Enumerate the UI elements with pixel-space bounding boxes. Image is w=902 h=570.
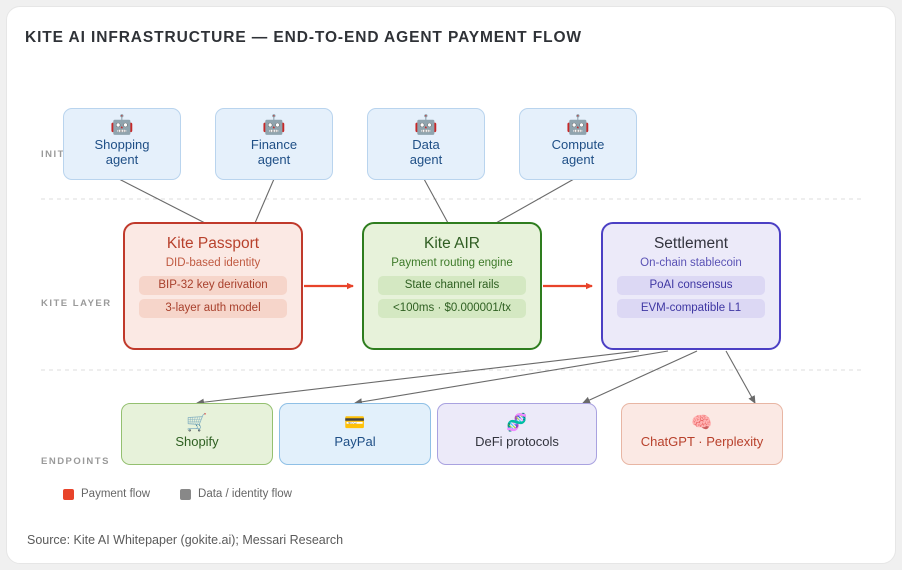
layer-title: Kite Passport xyxy=(125,233,301,254)
endpoint-label: PayPal xyxy=(280,434,430,450)
layer-node-settlement[interactable]: Settlement On-chain stablecoin PoAI cons… xyxy=(601,222,781,350)
layer-chip: EVM-compatible L1 xyxy=(617,299,765,318)
agent-name: Finance xyxy=(216,137,332,152)
source-note: Source: Kite AI Whitepaper (gokite.ai); … xyxy=(27,533,343,547)
shopping-cart-icon: 🛒 xyxy=(122,414,272,434)
agent-node-compute[interactable]: 🤖 Compute agent xyxy=(519,108,637,180)
agent-role: agent xyxy=(520,152,636,167)
wire-settlement-to-defi xyxy=(583,351,697,403)
agent-name: Compute xyxy=(520,137,636,152)
layer-title: Settlement xyxy=(603,233,779,254)
robot-icon: 🤖 xyxy=(64,116,180,137)
layer-chip: BIP-32 key derivation xyxy=(139,276,287,295)
band-label-kite-layer: KITE LAYER xyxy=(41,298,112,309)
endpoint-label: Shopify xyxy=(122,434,272,450)
wire-settlement-to-paypal xyxy=(355,351,668,403)
layer-subtitle: Payment routing engine xyxy=(364,254,540,272)
layer-node-kite-air[interactable]: Kite AIR Payment routing engine State ch… xyxy=(362,222,542,350)
agent-node-data[interactable]: 🤖 Data agent xyxy=(367,108,485,180)
brain-icon: 🧠 xyxy=(622,414,782,434)
agent-role: agent xyxy=(216,152,332,167)
legend-swatch-data xyxy=(180,489,191,500)
robot-icon: 🤖 xyxy=(216,116,332,137)
wire-finance-to-passport xyxy=(255,179,274,223)
endpoint-node-shopify[interactable]: 🛒 Shopify xyxy=(121,403,273,465)
page-title: KITE AI INFRASTRUCTURE — END-TO-END AGEN… xyxy=(25,29,582,47)
wire-data-to-air xyxy=(424,179,448,223)
agent-role: agent xyxy=(368,152,484,167)
legend-item-data-flow: Data / identity flow xyxy=(180,488,292,500)
layer-subtitle: DID-based identity xyxy=(125,254,301,272)
agent-role: agent xyxy=(64,152,180,167)
agent-name: Data xyxy=(368,137,484,152)
diagram-card: KITE AI INFRASTRUCTURE — END-TO-END AGEN… xyxy=(6,6,896,564)
endpoint-node-paypal[interactable]: 💳 PayPal xyxy=(279,403,431,465)
agent-name: Shopping xyxy=(64,137,180,152)
legend-swatch-payment xyxy=(63,489,74,500)
dna-icon: 🧬 xyxy=(438,414,596,434)
wire-settlement-to-ai xyxy=(726,351,755,403)
robot-icon: 🤖 xyxy=(520,116,636,137)
agent-node-shopping[interactable]: 🤖 Shopping agent xyxy=(63,108,181,180)
layer-title: Kite AIR xyxy=(364,233,540,254)
wire-shopping-to-passport xyxy=(119,179,205,223)
legend-label: Data / identity flow xyxy=(198,488,292,500)
wire-settlement-to-shopify xyxy=(197,351,639,403)
layer-node-kite-passport[interactable]: Kite Passport DID-based identity BIP-32 … xyxy=(123,222,303,350)
endpoint-node-defi[interactable]: 🧬 DeFi protocols xyxy=(437,403,597,465)
robot-icon: 🤖 xyxy=(368,116,484,137)
legend: Payment flow Data / identity flow xyxy=(63,488,292,500)
endpoint-label: ChatGPT · Perplexity xyxy=(622,434,782,450)
wire-compute-to-air xyxy=(496,179,574,223)
legend-label: Payment flow xyxy=(81,488,150,500)
band-label-endpoints: ENDPOINTS xyxy=(41,456,110,467)
credit-card-icon: 💳 xyxy=(280,414,430,434)
legend-item-payment-flow: Payment flow xyxy=(63,488,150,500)
layer-chip: 3-layer auth model xyxy=(139,299,287,318)
agent-node-finance[interactable]: 🤖 Finance agent xyxy=(215,108,333,180)
endpoint-node-ai-assistants[interactable]: 🧠 ChatGPT · Perplexity xyxy=(621,403,783,465)
layer-chip: State channel rails xyxy=(378,276,526,295)
layer-subtitle: On-chain stablecoin xyxy=(603,254,779,272)
layer-chip: PoAI consensus xyxy=(617,276,765,295)
endpoint-label: DeFi protocols xyxy=(438,434,596,450)
layer-chip: <100ms · $0.000001/tx xyxy=(378,299,526,318)
